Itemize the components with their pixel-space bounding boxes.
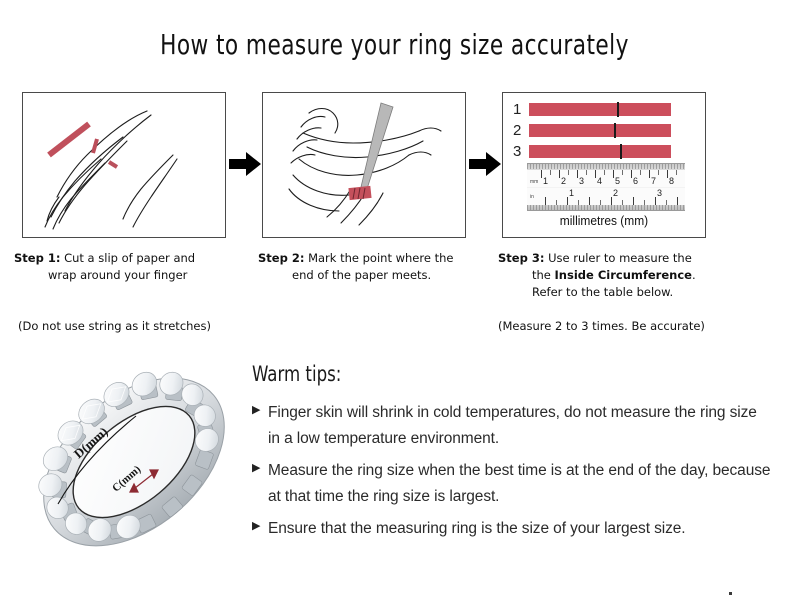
ruler-unit-mm: mm <box>530 179 538 185</box>
strip-mark-3 <box>620 144 622 159</box>
strip-number-1: 1 <box>513 102 529 117</box>
step-3-line2-pre: the <box>532 268 555 282</box>
step-3-inside-circumference: Inside Circumference <box>555 268 692 282</box>
bullet-triangle-icon-1: ▶ <box>252 400 268 415</box>
ruler-cm-tick-3: 3 <box>579 177 584 186</box>
strip-mark-1 <box>617 102 619 117</box>
step-2-illustration-panel <box>262 92 466 238</box>
warm-tip-text-3: Ensure that the measuring ring is the si… <box>268 516 685 542</box>
paper-strip-2 <box>529 124 671 137</box>
page-title: How to measure your ring size accurately <box>55 28 734 61</box>
warm-tip-text-1: Finger skin will shrink in cold temperat… <box>268 400 772 452</box>
ruler-scale-millimetres: mm 1 2 3 4 5 6 7 8 <box>527 170 685 187</box>
step-2-head: Step 2: <box>258 251 304 265</box>
ruler-cm-tick-7: 7 <box>651 177 656 186</box>
ruler-cm-tick-8: 8 <box>669 177 674 186</box>
step-2-line2: end of the paper meets. <box>292 268 431 282</box>
ruler-caption: millimetres (mm) <box>511 213 697 228</box>
step-3-head: Step 3: <box>498 251 544 265</box>
step-3-line3: Refer to the table below. <box>532 285 673 299</box>
strip-mark-2 <box>614 123 616 138</box>
pen-tool <box>361 103 393 189</box>
step-3-illustration-panel: 1 2 3 mm 1 2 3 <box>502 92 706 238</box>
strip-number-2: 2 <box>513 123 529 138</box>
step-captions: Step 1: Cut a slip of paper and wrap aro… <box>0 250 789 340</box>
warm-tip-text-2: Measure the ring size when the best time… <box>268 458 772 510</box>
image-artifact-speck <box>729 592 732 595</box>
step-3-line1: Use ruler to measure the <box>544 251 691 265</box>
steps-panel-row: 1 2 3 mm 1 2 3 <box>22 92 767 240</box>
ruler-cm-tick-6: 6 <box>633 177 638 186</box>
ruler-cm-tick-1: 1 <box>543 177 548 186</box>
step-1-illustration-panel <box>22 92 226 238</box>
ruler-scale-inches: in 1 2 3 <box>527 188 685 205</box>
warm-tip-item-3: ▶ Ensure that the measuring ring is the … <box>252 516 772 542</box>
ruler-graphic: mm 1 2 3 4 5 6 7 8 in <box>527 163 685 211</box>
hand-marking-paper-drawing <box>263 93 466 238</box>
paper-strip-3 <box>529 145 671 158</box>
bullet-triangle-icon-2: ▶ <box>252 458 268 473</box>
ring-measure-arrows <box>18 352 250 572</box>
ruler-texture-top <box>527 164 685 169</box>
warm-tips-section: Warm tips: ▶ Finger skin will shrink in … <box>252 362 772 548</box>
ruler-texture-bottom <box>527 205 685 210</box>
warm-tips-title: Warm tips: <box>252 362 710 386</box>
step-2-caption: Step 2: Mark the point where the end of … <box>258 250 508 284</box>
paper-slip-red <box>49 124 89 155</box>
step-1-line2: wrap around your finger <box>48 268 187 282</box>
strip-number-3: 3 <box>513 144 529 159</box>
hand-with-paper-slip-drawing <box>23 93 226 238</box>
ruler-unit-in: in <box>530 194 534 200</box>
paper-strip-1 <box>529 103 671 116</box>
ruler-inch-tick-1: 1 <box>569 189 574 198</box>
warm-tip-item-1: ▶ Finger skin will shrink in cold temper… <box>252 400 772 452</box>
ruler-cm-tick-5: 5 <box>615 177 620 186</box>
step-1-caption: Step 1: Cut a slip of paper and wrap aro… <box>14 250 264 284</box>
arrow-right-icon-1 <box>228 148 262 180</box>
step-1-note: (Do not use string as it stretches) <box>18 318 211 334</box>
ruler-cm-tick-4: 4 <box>597 177 602 186</box>
measured-strip-row-3: 3 <box>513 144 671 159</box>
bullet-triangle-icon-3: ▶ <box>252 516 268 531</box>
measured-strip-row-2: 2 <box>513 123 671 138</box>
step-1-line1: Cut a slip of paper and <box>60 251 195 265</box>
ruler-inch-tick-2: 2 <box>613 189 618 198</box>
arrow-right-icon-2 <box>468 148 502 180</box>
step-3-caption: Step 3: Use ruler to measure the the Ins… <box>498 250 748 301</box>
ring-diagram: D(mm) C(mm) <box>18 352 250 572</box>
step-3-note: (Measure 2 to 3 times. Be accurate) <box>498 318 705 334</box>
step-3-line2-post: . <box>692 268 696 282</box>
step-1-head: Step 1: <box>14 251 60 265</box>
ruler-inch-tick-3: 3 <box>657 189 662 198</box>
ruler-cm-tick-2: 2 <box>561 177 566 186</box>
warm-tip-item-2: ▶ Measure the ring size when the best ti… <box>252 458 772 510</box>
step-2-line1: Mark the point where the <box>304 251 453 265</box>
measured-strip-row-1: 1 <box>513 102 671 117</box>
